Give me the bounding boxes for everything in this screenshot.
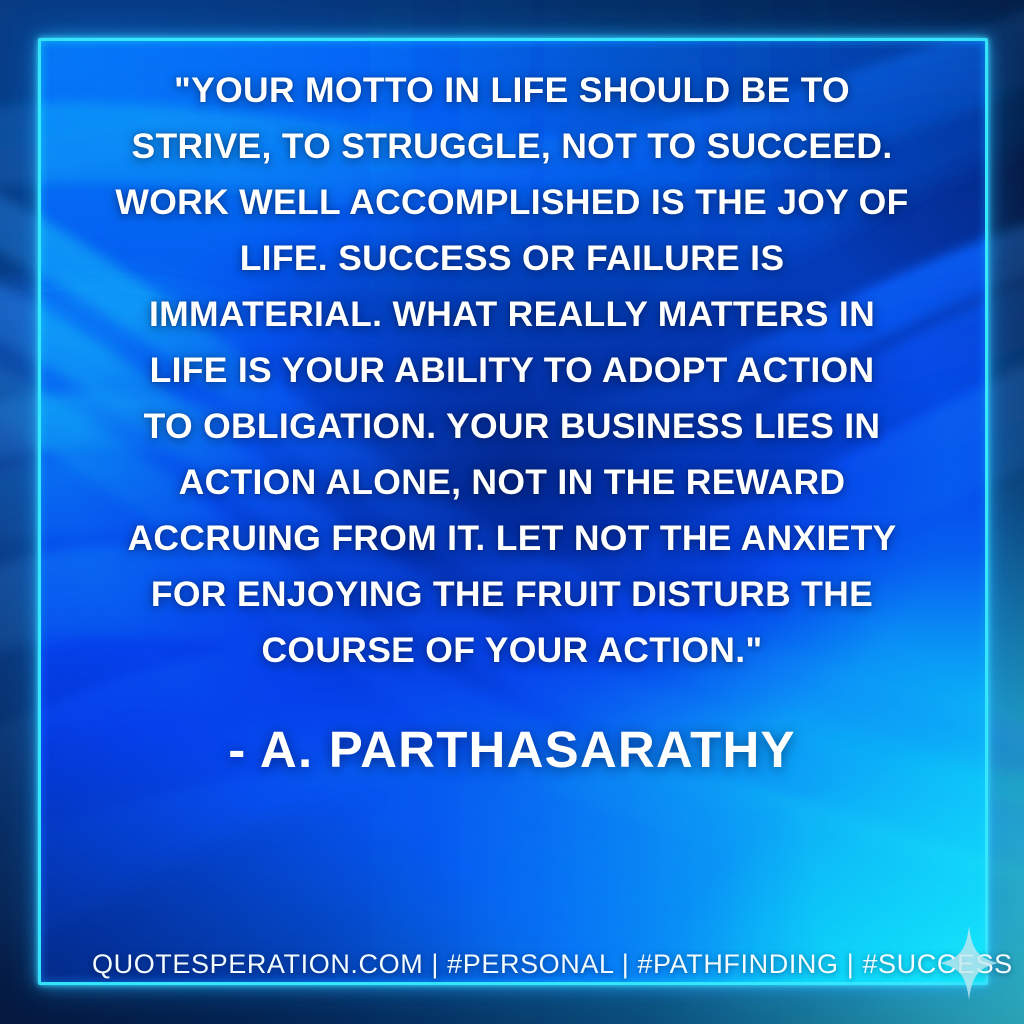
quote-card: "YOUR MOTTO IN LIFE SHOULD BE TO STRIVE,… — [0, 0, 1024, 1024]
author-attribution: - A. PARTHASARATHY — [92, 678, 932, 779]
footer-credit-text: QUOTESPERATION.COM | #PERSONAL | #PATHFI… — [92, 949, 1013, 980]
card-content: "YOUR MOTTO IN LIFE SHOULD BE TO STRIVE,… — [0, 0, 1024, 1024]
footer-bar: QUOTESPERATION.COM | #PERSONAL | #PATHFI… — [92, 949, 964, 980]
quote-text: "YOUR MOTTO IN LIFE SHOULD BE TO STRIVE,… — [92, 0, 932, 678]
